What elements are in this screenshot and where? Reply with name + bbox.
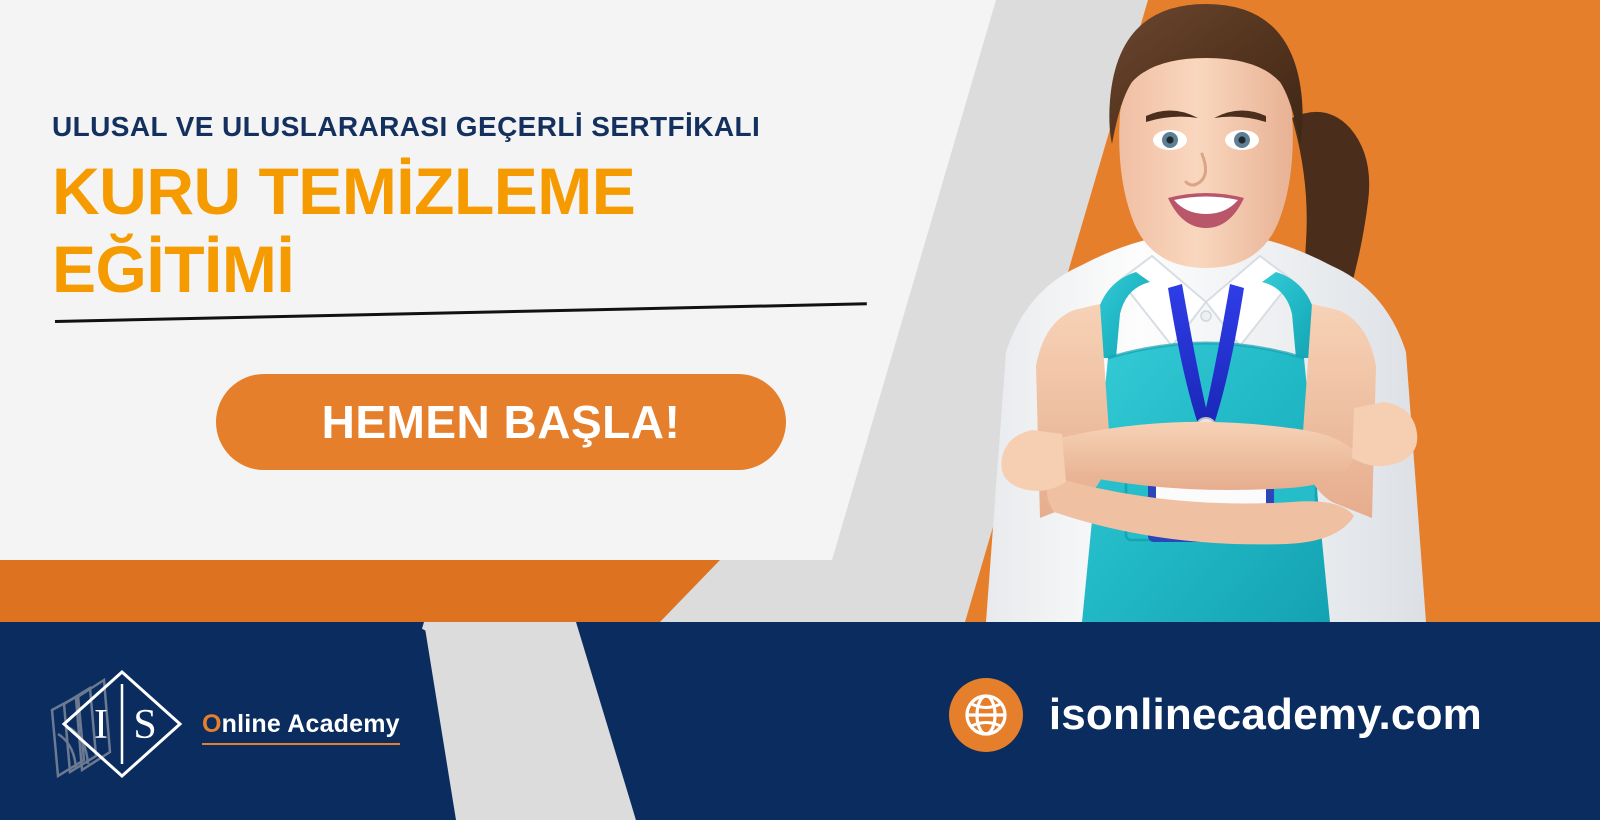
brand-logo[interactable]: I S Online Academy <box>44 664 400 784</box>
background-orange-band <box>0 560 760 622</box>
brand-name-accent: O <box>202 710 222 738</box>
diamond-monogram-icon: I S <box>44 664 194 784</box>
brand-name-rest: nline Academy <box>222 710 400 738</box>
headline-line-2: EĞİTİMİ <box>52 231 892 309</box>
monogram-i: I <box>94 702 108 748</box>
headline-line-1: KURU TEMİZLEME <box>52 154 635 228</box>
brand-name: Online Academy <box>202 710 400 739</box>
cta-start-button[interactable]: HEMEN BAŞLA! <box>216 374 786 470</box>
website-url: isonlinecademy.com <box>1049 690 1482 740</box>
headline-block: ULUSAL VE ULUSLARARASI GEÇERLİ SERTFİKAL… <box>52 112 892 309</box>
eyebrow-text: ULUSAL VE ULUSLARARASI GEÇERLİ SERTFİKAL… <box>52 112 892 143</box>
monogram-s: S <box>133 702 156 748</box>
brand-underline <box>202 743 400 745</box>
promo-banner: ULUSAL VE ULUSLARARASI GEÇERLİ SERTFİKAL… <box>0 0 1600 820</box>
globe-icon <box>949 678 1023 752</box>
page-title: KURU TEMİZLEME EĞİTİMİ <box>52 153 892 309</box>
website-link[interactable]: isonlinecademy.com <box>949 678 1482 752</box>
